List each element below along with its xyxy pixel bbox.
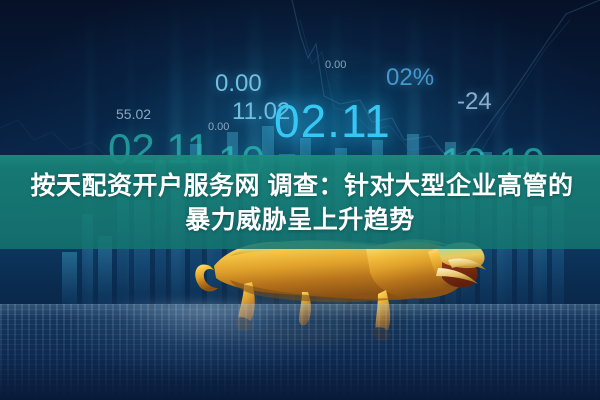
banner-image: 0.0055.020.0011.0202.1102.11100.0002%-24… xyxy=(0,0,600,400)
headline-line-2: 暴力威胁呈上升趋势 xyxy=(185,204,415,236)
overlay-number: -24 xyxy=(457,90,492,114)
overlay-number: 55.02 xyxy=(116,107,151,121)
floor-sheen xyxy=(70,304,370,400)
overlay-number: 0.00 xyxy=(208,122,229,133)
headline-line-1: 按天配资开户服务网 调查：针对大型企业高管的 xyxy=(27,170,574,202)
overlay-number: 02% xyxy=(386,66,434,90)
headline: 按天配资开户服务网 调查：针对大型企业高管的 暴力威胁呈上升趋势 xyxy=(0,160,600,246)
overlay-number: 0.00 xyxy=(325,60,346,71)
overlay-number: 02.11 xyxy=(274,98,391,144)
overlay-number: 0.00 xyxy=(215,72,262,96)
chart-bar xyxy=(62,252,77,310)
